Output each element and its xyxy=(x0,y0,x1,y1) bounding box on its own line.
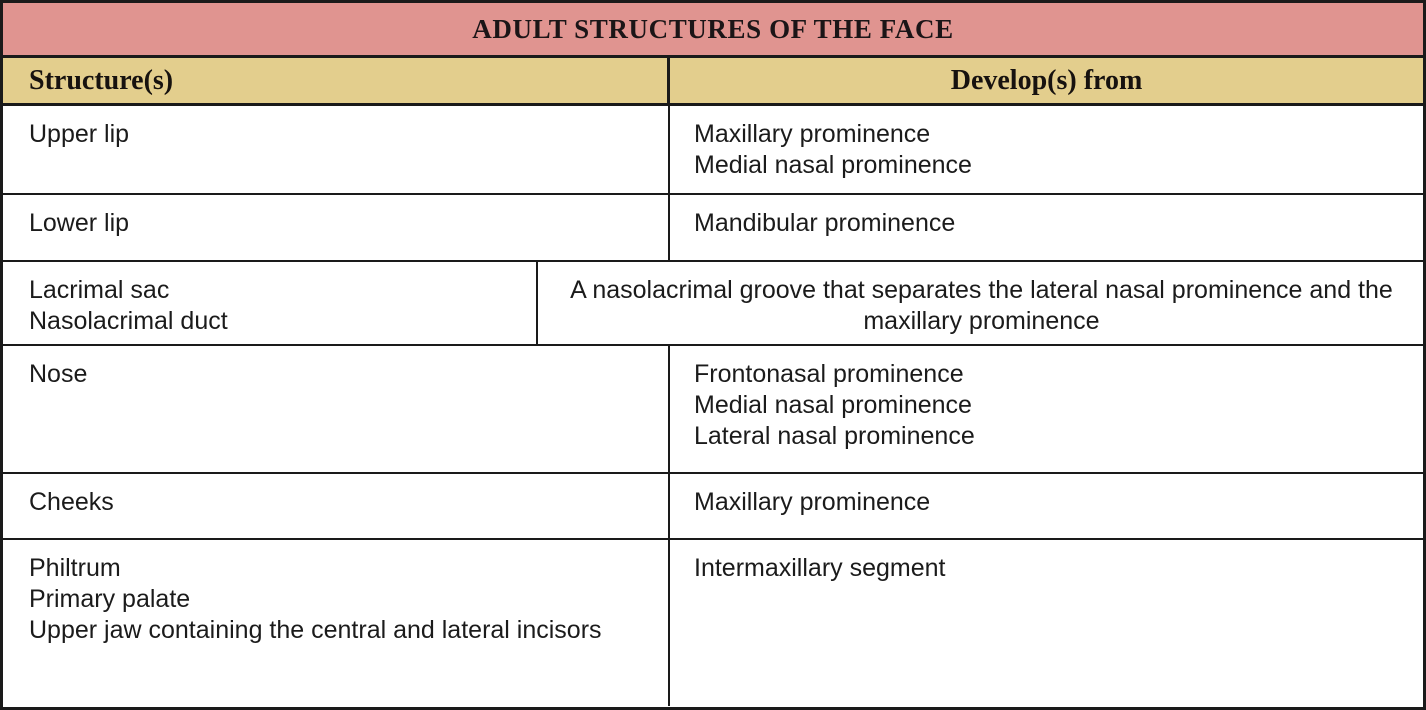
develops-cell: Intermaxillary segment xyxy=(670,540,1423,706)
structure-line: Philtrum xyxy=(29,553,650,584)
develops-line: Mandibular prominence xyxy=(694,208,1401,239)
table-row: Philtrum Primary palate Upper jaw contai… xyxy=(3,540,1423,706)
develops-line: Medial nasal prominence xyxy=(694,150,1401,181)
table-row: Cheeks Maxillary prominence xyxy=(3,474,1423,540)
develops-cell: Mandibular prominence xyxy=(670,195,1423,260)
structure-line: Cheeks xyxy=(29,487,650,518)
structure-cell: Lacrimal sac Nasolacrimal duct xyxy=(3,262,538,344)
develops-cell: Maxillary prominence Medial nasal promin… xyxy=(670,106,1423,193)
adult-structures-of-the-face-table: ADULT STRUCTURES OF THE FACE Structure(s… xyxy=(0,0,1426,710)
column-header-structure-label: Structure(s) xyxy=(29,67,173,95)
table-column-header-row: Structure(s) Develop(s) from xyxy=(0,58,1426,106)
develops-line: Frontonasal prominence xyxy=(694,359,1401,390)
structure-cell: Philtrum Primary palate Upper jaw contai… xyxy=(3,540,670,706)
develops-line: Medial nasal prominence xyxy=(694,390,1401,421)
structure-line: Nose xyxy=(29,359,650,390)
structure-line: Upper lip xyxy=(29,119,650,150)
column-header-develops-cell: Develop(s) from xyxy=(670,58,1423,103)
develops-line: Maxillary prominence xyxy=(694,119,1401,150)
table-title-bar: ADULT STRUCTURES OF THE FACE xyxy=(0,0,1426,58)
table-row: Nose Frontonasal prominence Medial nasal… xyxy=(3,346,1423,474)
table-row: Upper lip Maxillary prominence Medial na… xyxy=(3,106,1423,195)
structure-cell: Lower lip xyxy=(3,195,670,260)
table-title: ADULT STRUCTURES OF THE FACE xyxy=(472,16,953,43)
develops-cell: Frontonasal prominence Medial nasal prom… xyxy=(670,346,1423,472)
develops-line: A nasolacrimal groove that separates the… xyxy=(562,275,1401,337)
develops-line: Maxillary prominence xyxy=(694,487,1401,518)
table-row: Lower lip Mandibular prominence xyxy=(3,195,1423,262)
column-header-structure-cell: Structure(s) xyxy=(3,58,670,103)
structure-cell: Nose xyxy=(3,346,670,472)
develops-line: Lateral nasal prominence xyxy=(694,421,1401,452)
structure-line: Nasolacrimal duct xyxy=(29,306,518,337)
structure-line: Primary palate xyxy=(29,584,650,615)
develops-cell: Maxillary prominence xyxy=(670,474,1423,538)
structure-cell: Cheeks xyxy=(3,474,670,538)
table-body: Upper lip Maxillary prominence Medial na… xyxy=(0,106,1426,710)
table-row: Lacrimal sac Nasolacrimal duct A nasolac… xyxy=(3,262,1423,346)
develops-cell: A nasolacrimal groove that separates the… xyxy=(538,262,1423,344)
structure-line: Lower lip xyxy=(29,208,650,239)
structure-line: Upper jaw containing the central and lat… xyxy=(29,615,650,646)
structure-line: Lacrimal sac xyxy=(29,275,518,306)
column-header-develops-label: Develop(s) from xyxy=(951,67,1143,95)
structure-cell: Upper lip xyxy=(3,106,670,193)
develops-line: Intermaxillary segment xyxy=(694,553,1401,584)
